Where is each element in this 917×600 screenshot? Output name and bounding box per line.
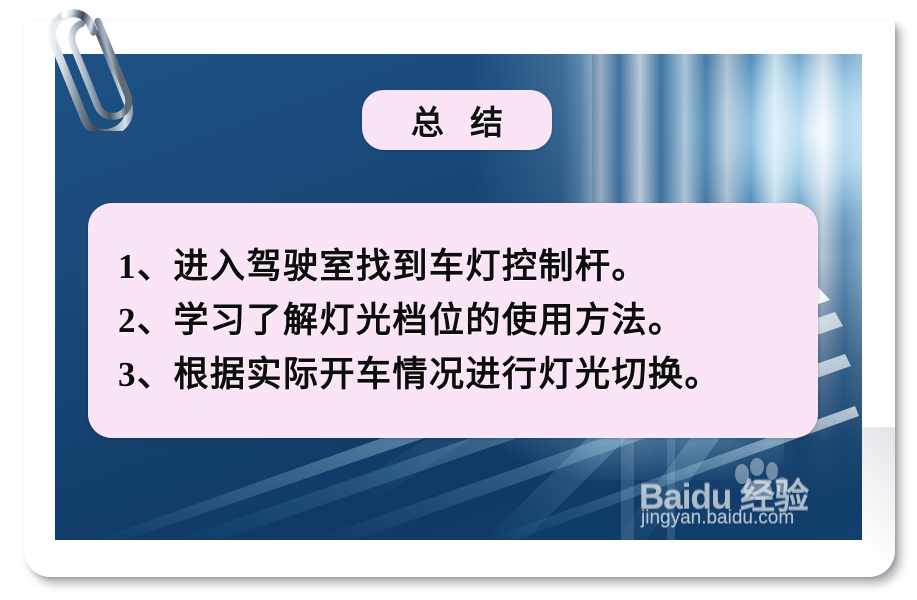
content-line-3: 3、根据实际开车情况进行灯光切换。: [118, 348, 818, 402]
content-line-1: 1、进入驾驶室找到车灯控制杆。: [118, 240, 818, 294]
slide-content-box: 1、进入驾驶室找到车灯控制杆。 2、学习了解灯光档位的使用方法。 3、根据实际开…: [88, 203, 818, 438]
presentation-slide: 总 结 1、进入驾驶室找到车灯控制杆。 2、学习了解灯光档位的使用方法。 3、根…: [55, 54, 862, 540]
slide-title-text: 总 结: [402, 96, 512, 144]
content-line-2: 2、学习了解灯光档位的使用方法。: [118, 294, 818, 348]
slide-title-box: 总 结: [362, 90, 552, 150]
slide-stage: 总 结 1、进入驾驶室找到车灯控制杆。 2、学习了解灯光档位的使用方法。 3、根…: [0, 0, 917, 600]
